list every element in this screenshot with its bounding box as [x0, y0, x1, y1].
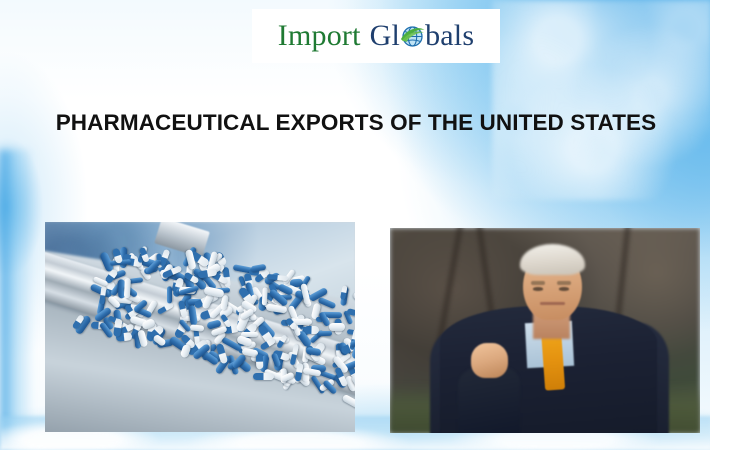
capsule	[190, 324, 204, 331]
capsule	[352, 291, 355, 308]
eyebrow-right	[557, 281, 571, 284]
pharmaceutical-production-line-image	[45, 222, 355, 432]
page-right-margin	[710, 0, 750, 450]
mouth	[540, 302, 565, 306]
capsule	[157, 302, 174, 315]
eyebrow-left	[531, 281, 545, 284]
us-official-portrait-image	[390, 228, 700, 433]
capsule	[318, 297, 337, 309]
eye-right	[559, 287, 569, 290]
capsule	[256, 354, 264, 369]
logo-word-import: Import	[278, 19, 361, 52]
capsule	[329, 323, 345, 330]
capsule	[167, 286, 172, 303]
capsule	[253, 373, 274, 380]
capsule	[124, 278, 131, 299]
capsule	[128, 277, 143, 284]
capsule	[317, 331, 333, 337]
capsule	[342, 394, 355, 410]
clenched-fist	[471, 343, 508, 378]
capsule	[260, 338, 277, 352]
capsule	[304, 326, 319, 334]
globe-icon	[400, 24, 425, 49]
import-globals-logo[interactable]: ImportGl bals	[252, 9, 500, 63]
eye-left	[533, 287, 543, 290]
logo-wordmark: ImportGl bals	[278, 21, 474, 51]
capsule-cluster	[45, 222, 355, 432]
page-title: PHARMACEUTICAL EXPORTS OF THE UNITED STA…	[0, 110, 712, 136]
logo-word-gl: Gl	[370, 19, 400, 52]
capsule	[262, 288, 268, 306]
slide-canvas: ImportGl bals PHARMACEUTICAL EXPORTS OF …	[0, 0, 750, 450]
logo-word-bals: bals	[425, 19, 474, 52]
